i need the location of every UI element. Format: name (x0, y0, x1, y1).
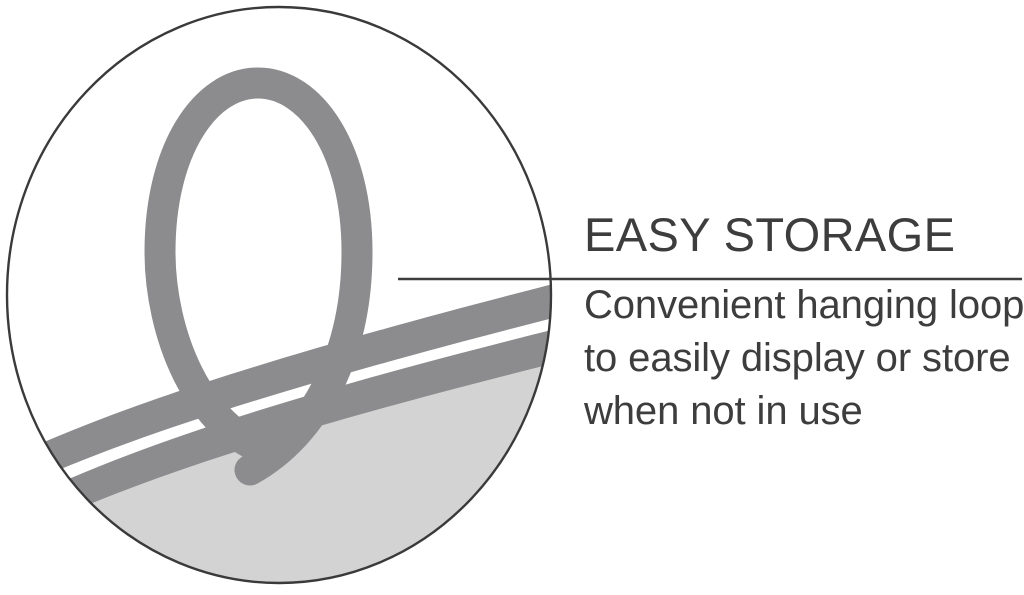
feature-description: Convenient hanging loop to easily displa… (584, 262, 1024, 438)
feature-callout-card: EASY STORAGE Convenient hanging loop to … (0, 0, 1024, 595)
callout-text-panel: EASY STORAGE Convenient hanging loop to … (584, 208, 1024, 438)
feature-title: EASY STORAGE (584, 208, 1024, 262)
description-line-3: when not in use (584, 385, 1024, 438)
description-line-2: to easily display or store (584, 332, 1024, 385)
description-line-1: Convenient hanging loop (584, 279, 1024, 332)
